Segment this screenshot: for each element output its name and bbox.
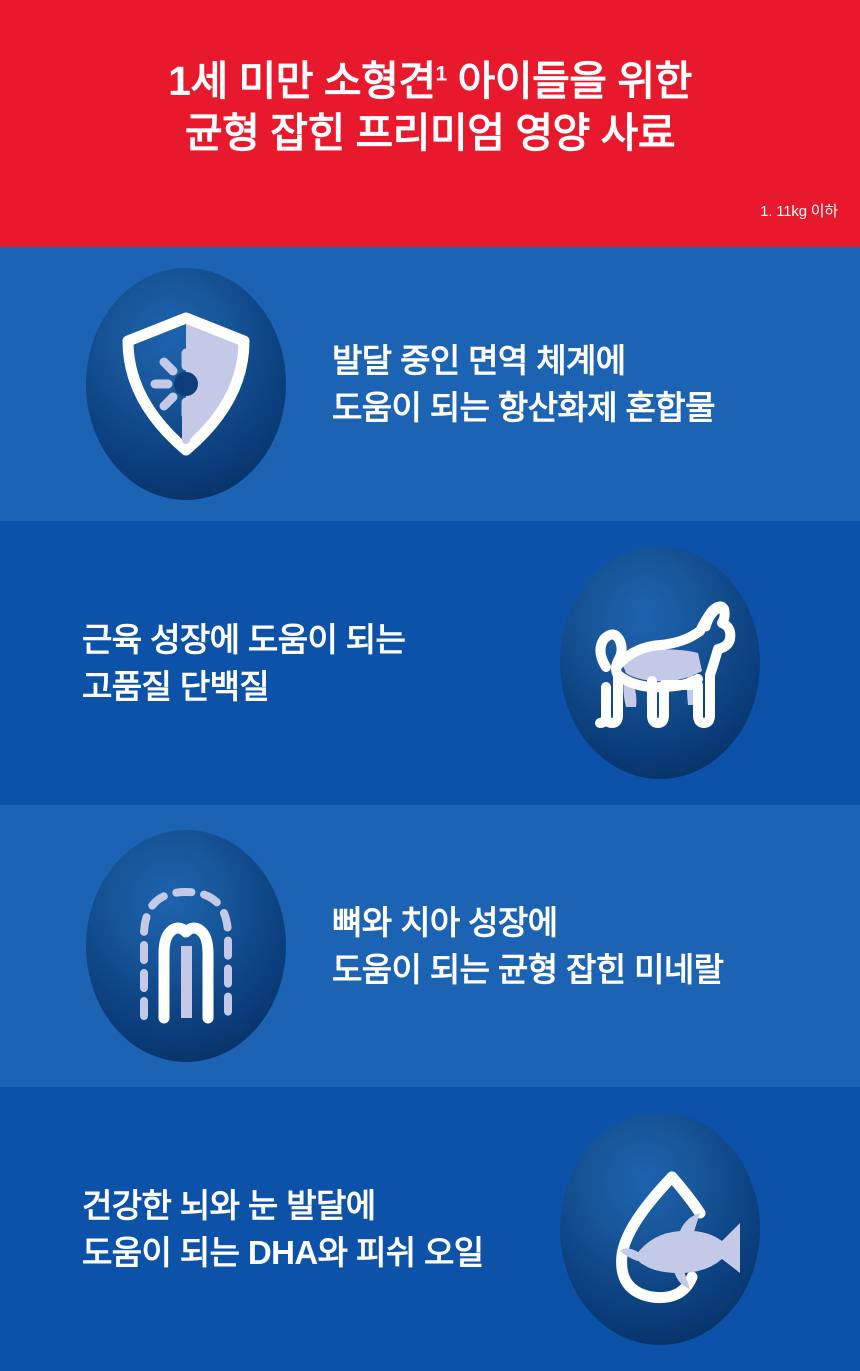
droplet-fish-oil-icon-container xyxy=(560,1113,760,1345)
feature-line2: 고품질 단백질 xyxy=(82,663,405,710)
feature-panel-muscle: 근육 성장에 도움이 되는 고품질 단백질 xyxy=(0,521,860,805)
feature-text-immunity: 발달 중인 면역 체계에 도움이 되는 항산화제 혼합물 xyxy=(332,337,715,431)
feature-line2: 도움이 되는 DHA와 피쉬 오일 xyxy=(82,1229,484,1276)
bone-tooth-icon xyxy=(86,830,286,1062)
feature-text-bones: 뼈와 치아 성장에 도움이 되는 균형 잡힌 미네랄 xyxy=(332,899,723,993)
feature-text-muscle: 근육 성장에 도움이 되는 고품질 단백질 xyxy=(82,616,405,710)
page-title-superscript: 1 xyxy=(436,62,447,85)
feature-line1: 근육 성장에 도움이 되는 xyxy=(82,621,405,658)
page-title-line1-main: 1세 미만 소형견 xyxy=(168,58,435,104)
feature-panel-dha: 건강한 뇌와 눈 발달에 도움이 되는 DHA와 피쉬 오일 xyxy=(0,1087,860,1371)
page-title-line1-rest: 아이들을 위한 xyxy=(447,58,692,104)
infographic-page: 1세 미만 소형견1 아이들을 위한 균형 잡힌 프리미엄 영양 사료 1. 1… xyxy=(0,0,860,1371)
shield-antioxidant-icon-container xyxy=(86,268,286,500)
feature-text-dha: 건강한 뇌와 눈 발달에 도움이 되는 DHA와 피쉬 오일 xyxy=(82,1182,484,1276)
feature-line1: 발달 중인 면역 체계에 xyxy=(332,342,626,379)
header-banner: 1세 미만 소형견1 아이들을 위한 균형 잡힌 프리미엄 영양 사료 1. 1… xyxy=(0,0,860,247)
feature-panel-bones: 뼈와 치아 성장에 도움이 되는 균형 잡힌 미네랄 xyxy=(0,805,860,1087)
feature-line1: 건강한 뇌와 눈 발달에 xyxy=(82,1187,376,1224)
page-title: 1세 미만 소형견1 아이들을 위한 균형 잡힌 프리미엄 영양 사료 xyxy=(0,55,860,159)
droplet-fish-oil-icon xyxy=(560,1113,760,1345)
feature-line1: 뼈와 치아 성장에 xyxy=(332,904,557,941)
dog-muscle-icon-container xyxy=(560,547,760,779)
shield-antioxidant-icon xyxy=(86,268,286,500)
feature-panel-immunity: 발달 중인 면역 체계에 도움이 되는 항산화제 혼합물 xyxy=(0,247,860,521)
feature-line2: 도움이 되는 항산화제 혼합물 xyxy=(332,384,715,431)
bone-tooth-icon-container xyxy=(86,830,286,1062)
dog-muscle-icon xyxy=(560,547,760,779)
feature-line2: 도움이 되는 균형 잡힌 미네랄 xyxy=(332,946,723,993)
header-footnote: 1. 11kg 이하 xyxy=(760,200,838,221)
page-title-line2: 균형 잡힌 프리미엄 영양 사료 xyxy=(0,107,860,159)
